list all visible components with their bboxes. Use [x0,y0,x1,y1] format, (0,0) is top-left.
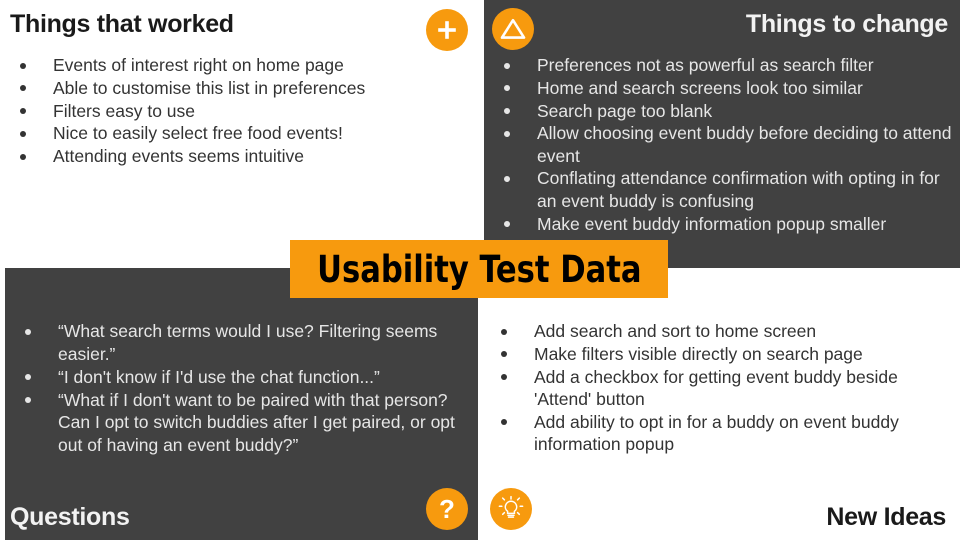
slide-title: Usability Test Data [317,248,641,291]
heading-things-to-change: Things to change [746,10,948,39]
list-item: Home and search screens look too similar [484,77,952,99]
usability-test-data-slide: Things that worked Events of interest ri… [0,0,960,540]
lightbulb-icon [490,488,532,530]
center-title-banner: Usability Test Data [290,240,668,298]
list-item: Attending events seems intuitive [0,145,470,167]
list-item: “What search terms would I use? Filterin… [5,320,455,365]
list-item: Add a checkbox for getting event buddy b… [481,366,951,411]
list-item: Nice to easily select free food events! [0,122,470,144]
list-item: Preferences not as powerful as search fi… [484,54,952,76]
list-item: Conflating attendance confirmation with … [484,167,952,212]
list-item: Add search and sort to home screen [481,320,951,342]
list-item: Search page too blank [484,100,952,122]
list-item: Make event buddy information popup small… [484,213,952,235]
list-new-ideas: Add search and sort to home screen Make … [481,320,951,456]
heading-things-that-worked: Things that worked [10,10,234,39]
list-item: Filters easy to use [0,100,470,122]
warning-triangle-icon [492,8,534,50]
list-things-to-change: Preferences not as powerful as search fi… [484,54,952,235]
list-item: Make filters visible directly on search … [481,343,951,365]
heading-new-ideas: New Ideas [826,503,946,532]
list-item: Events of interest right on home page [0,54,470,76]
list-item: “I don't know if I'd use the chat functi… [5,366,455,389]
list-item: Add ability to opt in for a buddy on eve… [481,411,951,456]
list-questions: “What search terms would I use? Filterin… [5,320,455,457]
list-item: Able to customise this list in preferenc… [0,77,470,99]
question-mark-glyph: ? [439,496,455,522]
heading-questions: Questions [10,503,130,532]
plus-circle-icon [426,9,468,51]
list-item: “What if I don't want to be paired with … [5,389,455,457]
list-things-that-worked: Events of interest right on home page Ab… [0,54,470,168]
question-mark-icon: ? [426,488,468,530]
list-item: Allow choosing event buddy before decidi… [484,122,952,167]
